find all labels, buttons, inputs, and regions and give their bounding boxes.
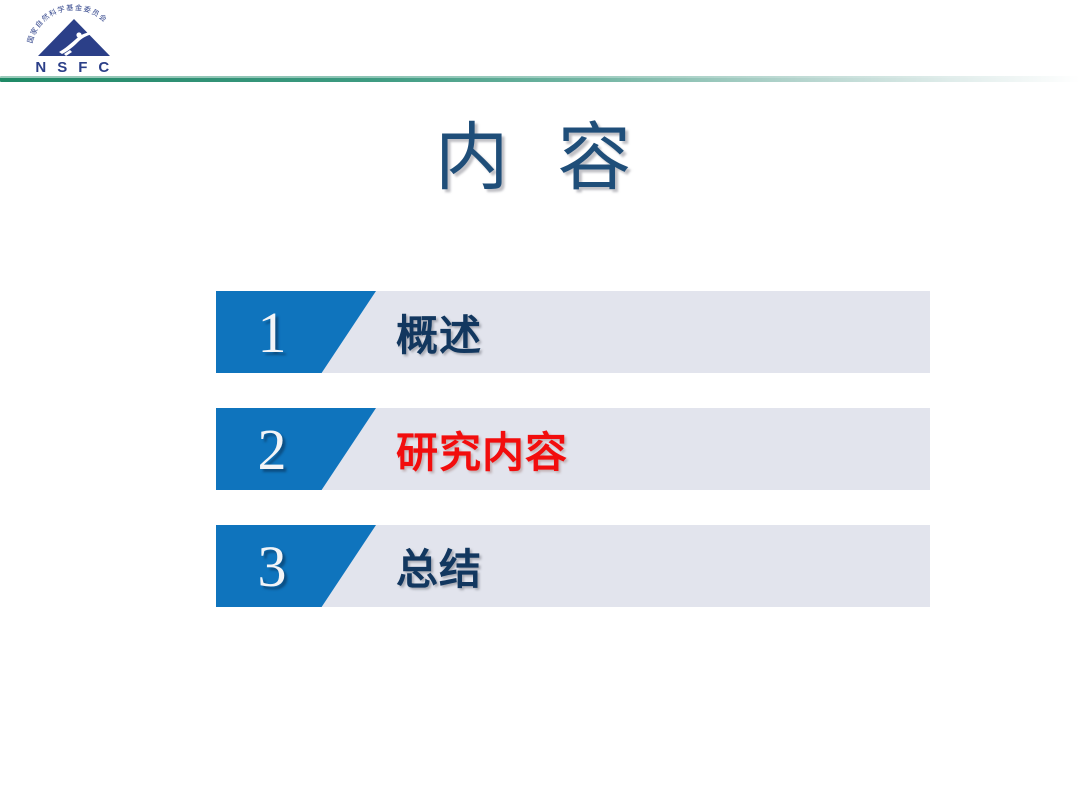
agenda-item-2[interactable]: 2 研究内容: [216, 408, 930, 490]
agenda-list: 1 概述 2 研究内容 3 总结: [216, 291, 930, 607]
presentation-slide: 国家自然科学基金委员会 N S F C 内 容 1 概述: [0, 0, 1080, 810]
agenda-item-3[interactable]: 3 总结: [216, 525, 930, 607]
agenda-label[interactable]: 总结: [396, 525, 482, 607]
nsfc-mountain-logo: 国家自然科学基金委员会 N S F C: [18, 4, 130, 76]
header-divider: [0, 76, 1080, 82]
agenda-label-active[interactable]: 研究内容: [396, 408, 568, 490]
slide-header: 国家自然科学基金委员会 N S F C: [0, 0, 1080, 86]
page-title: 内 容: [0, 112, 1080, 204]
agenda-item-1[interactable]: 1 概述: [216, 291, 930, 373]
logo-acronym: N S F C: [35, 59, 112, 76]
agenda-label[interactable]: 概述: [396, 291, 482, 373]
